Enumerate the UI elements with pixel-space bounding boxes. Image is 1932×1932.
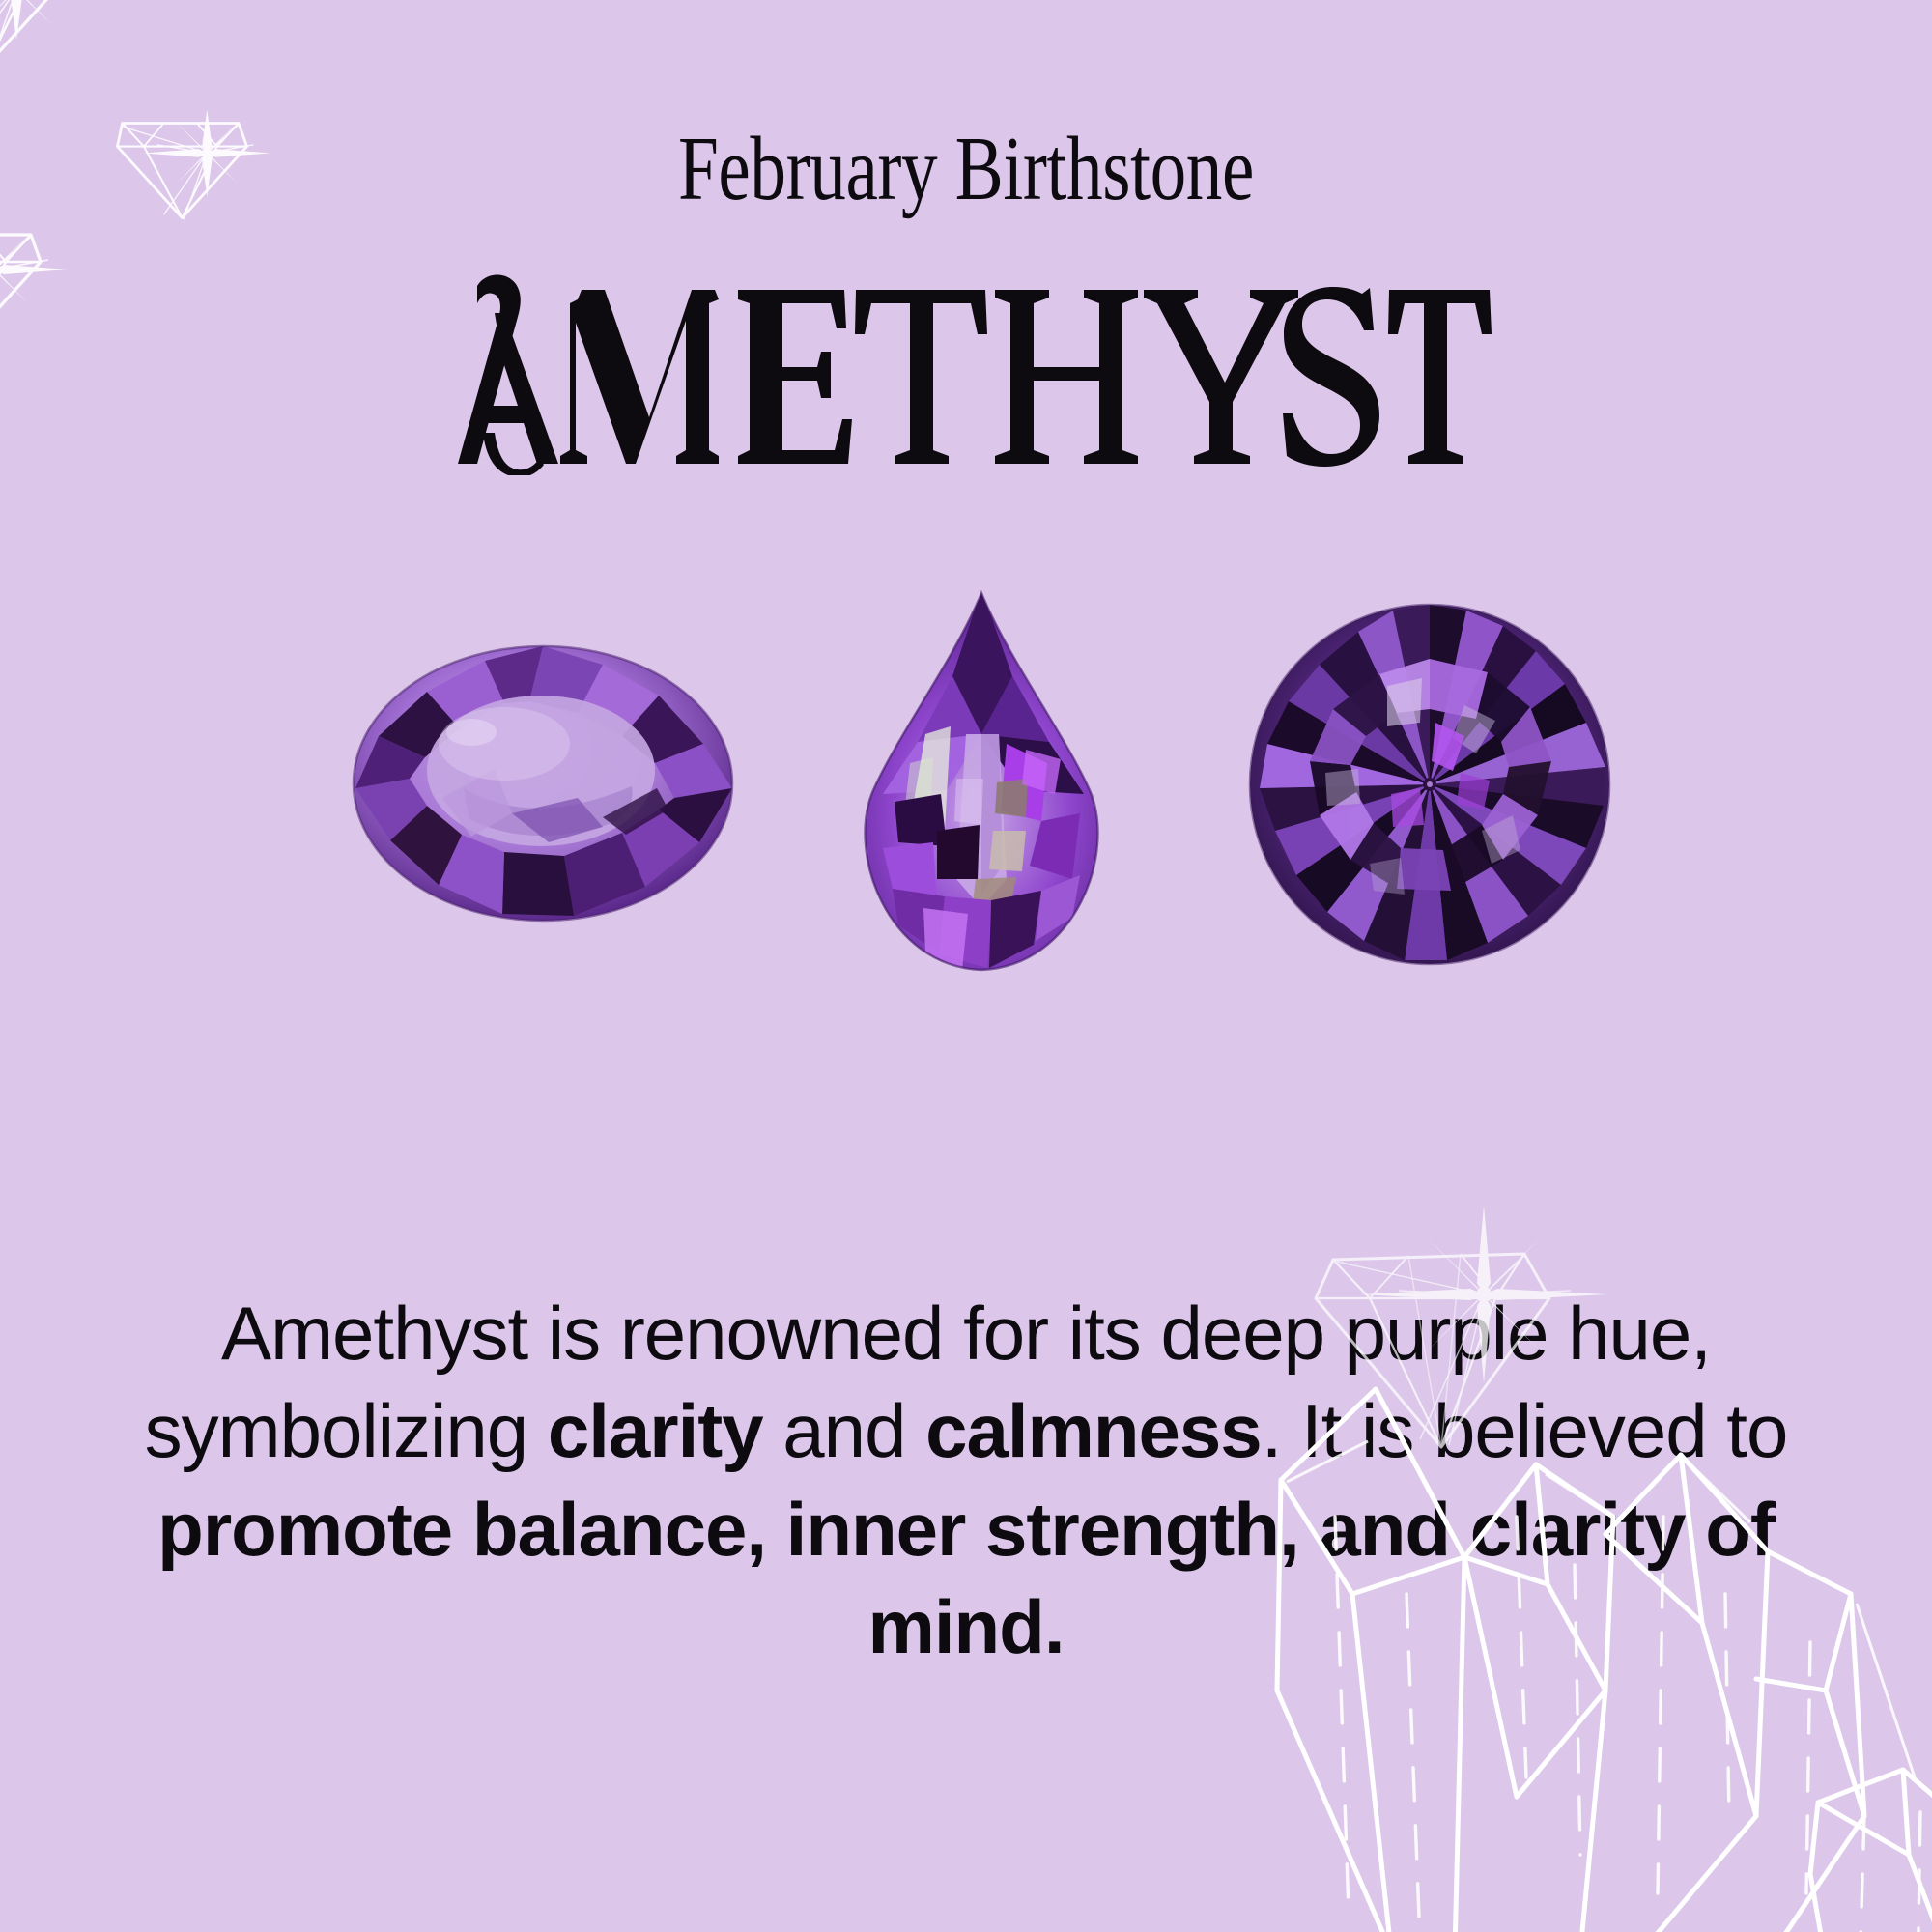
desc-seg-5: promote balance, inner strength, and cla…: [157, 1487, 1775, 1669]
birthstone-poster: February Birthstone: [0, 0, 1932, 1932]
description-paragraph: Amethyst is renowned for its deep purple…: [106, 1285, 1826, 1677]
desc-seg-4: . It is believed to: [1262, 1388, 1788, 1473]
desc-seg-2: and: [763, 1388, 925, 1473]
desc-seg-1: clarity: [548, 1388, 763, 1473]
round-amethyst-gem: [1246, 601, 1613, 968]
pear-amethyst-gem: [837, 589, 1126, 976]
gemstone-row: [0, 580, 1932, 1121]
eyebrow-label: February Birthstone: [193, 124, 1739, 214]
amethyst-wordmark: [435, 253, 1497, 475]
oval-amethyst-gem: [350, 643, 736, 923]
desc-seg-3: calmness: [925, 1388, 1262, 1473]
page-title: [0, 253, 1932, 475]
